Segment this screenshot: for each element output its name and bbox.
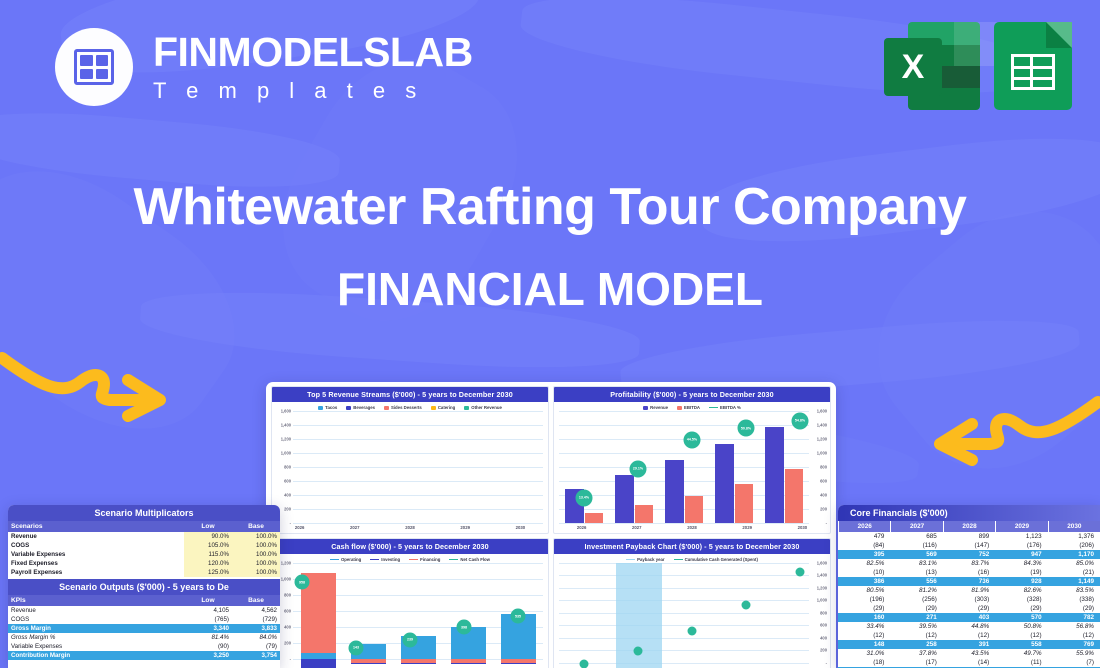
legend-label: Financing — [420, 557, 440, 562]
core-financials-rows: 4796858991,1231,376(84)(116)(147)(176)(2… — [838, 532, 1100, 668]
table-cell: (17) — [890, 658, 942, 667]
scenario-outputs-rows: Revenue4,1054,562COGS(765)(729)Gross Mar… — [8, 606, 280, 660]
table-cell: 1,170 — [1048, 550, 1100, 559]
cell-base: (729) — [232, 615, 280, 624]
table-cell: 81.2% — [890, 586, 942, 595]
x-tick-label: 2026 — [554, 524, 609, 533]
table-row: 80.5%81.2%81.9%82.6%83.5% — [838, 586, 1100, 595]
table-cell: 50.8% — [995, 622, 1047, 631]
bar-revenue — [765, 427, 783, 523]
y-tick-label: 600 — [811, 623, 827, 628]
y-tick-label: - — [811, 660, 827, 665]
table-cell: (116) — [890, 541, 942, 550]
bar-group — [665, 411, 703, 523]
chart-legend: Payback year Cumulative Cash Generated (… — [554, 554, 830, 563]
x-tick-label: 2028 — [664, 524, 719, 533]
legend-label: Other Revenue — [471, 405, 502, 410]
table-cell: (303) — [943, 595, 995, 604]
column-header-base: Base — [232, 521, 280, 532]
table-cell: (12) — [943, 631, 995, 640]
row-label: Gross Margin — [8, 624, 184, 633]
app-icons-group: X — [884, 22, 1072, 110]
data-label-bubble: 13.4% — [576, 489, 593, 506]
legend-label: EBITDA % — [720, 405, 741, 410]
table-row: 160271403570782 — [838, 613, 1100, 622]
cell-base: 4,562 — [232, 606, 280, 615]
data-label-bubble: 398 — [457, 620, 472, 635]
grid-icon — [74, 49, 114, 85]
table-row: Fixed Expenses120.0%100.0% — [8, 559, 280, 568]
cell-low: 81.4% — [184, 633, 232, 642]
dashboard-preview[interactable]: Top 5 Revenue Streams ($'000) - 5 years … — [266, 382, 836, 668]
cell-base: 100.0% — [232, 568, 280, 577]
bar-investing — [351, 663, 386, 664]
table-row: (12)(12)(12)(12)(12) — [838, 631, 1100, 640]
table-cell: 33.4% — [838, 622, 890, 631]
table-cell: 44.8% — [943, 622, 995, 631]
table-cell: (13) — [890, 568, 942, 577]
bar-investing — [401, 663, 436, 664]
y-tick-label: 800 — [275, 465, 291, 470]
chart-title: Investment Payback Chart ($'000) - 5 yea… — [554, 539, 830, 554]
cell-low: 125.0% — [184, 568, 232, 577]
table-cell: 82.6% — [995, 586, 1047, 595]
row-label: Variable Expenses — [8, 550, 184, 559]
table-cell: (7) — [1048, 658, 1100, 667]
cell-base: 100.0% — [232, 559, 280, 568]
table-cell: 160 — [838, 613, 890, 622]
table-cell: (29) — [838, 604, 890, 613]
bar-revenue — [715, 444, 733, 523]
table-cell: 258 — [890, 640, 942, 649]
table-row: Contribution Margin3,2503,754 — [8, 651, 280, 660]
table-cell: 56.8% — [1048, 622, 1100, 631]
table-cell: 83.7% — [943, 559, 995, 568]
table-cell: (147) — [943, 541, 995, 550]
x-tick-label: 2027 — [609, 524, 664, 533]
cell-low: 120.0% — [184, 559, 232, 568]
cell-base: 100.0% — [232, 550, 280, 559]
chart-plot-area: 1,6001,4001,2001,000800600400200-(200) — [557, 563, 827, 668]
chart-panel-profitability[interactable]: Profitability ($'000) - 5 years to Decem… — [553, 386, 831, 534]
cell-base: (79) — [232, 642, 280, 651]
year-header: 2028 — [943, 521, 995, 532]
bar-investing — [501, 663, 536, 664]
table-cell: (12) — [1048, 631, 1100, 640]
y-tick-label: 600 — [811, 479, 827, 484]
chart-title: Profitability ($'000) - 5 years to Decem… — [554, 387, 830, 402]
legend-label: Cumulative Cash Generated (Spent) — [685, 557, 758, 562]
row-label: Variable Expenses — [8, 642, 184, 651]
bar-revenue — [615, 475, 633, 523]
table-cell: (338) — [1048, 595, 1100, 604]
grid-line — [559, 523, 809, 524]
y-tick-label: 400 — [811, 493, 827, 498]
y-tick-label: 1,400 — [811, 423, 827, 428]
arrow-left-decoration — [0, 352, 190, 422]
chart-legend: Tacos Beverages Sides Desserts Catering … — [272, 402, 548, 411]
table-row: (29)(29)(29)(29)(29) — [838, 604, 1100, 613]
table-cell: 570 — [995, 613, 1047, 622]
table-cell: 55.9% — [1048, 649, 1100, 658]
table-row: Gross Margin3,3403,833 — [8, 624, 280, 633]
table-cell: (18) — [838, 658, 890, 667]
row-label: COGS — [8, 541, 184, 550]
bar-investing — [451, 663, 486, 664]
cell-base: 84.0% — [232, 633, 280, 642]
brand-logo[interactable]: FINMODELSLAB T e m p l a t e s — [55, 28, 473, 106]
page-subtitle: FINANCIAL MODEL — [0, 262, 1100, 316]
table-cell: 31.0% — [838, 649, 890, 658]
cell-low: 3,250 — [184, 651, 232, 660]
table-cell: 84.3% — [995, 559, 1047, 568]
table-row: (196)(256)(303)(328)(338) — [838, 595, 1100, 604]
y-tick-label: 1,400 — [811, 573, 827, 578]
excel-icon: X — [884, 22, 980, 110]
table-cell: 81.9% — [943, 586, 995, 595]
table-cell: 49.7% — [995, 649, 1047, 658]
row-label: Gross Margin % — [8, 633, 184, 642]
chart-x-axis: 20262027202820292030 — [554, 524, 830, 533]
chart-panel-cash-flow[interactable]: Cash flow ($'000) - 5 years to December … — [271, 538, 549, 668]
y-tick-label: 1,600 — [811, 409, 827, 414]
chart-plot-area: 1,6001,4001,2001,000800600400200-13.4%29… — [557, 411, 827, 523]
y-tick-label: 1,600 — [811, 561, 827, 566]
cell-low: 105.0% — [184, 541, 232, 550]
table-cell: (29) — [1048, 604, 1100, 613]
google-sheets-icon — [994, 22, 1072, 110]
table-cell: (29) — [890, 604, 942, 613]
table-cell: 391 — [943, 640, 995, 649]
y-tick-label: 200 — [811, 507, 827, 512]
table-cell: 82.5% — [838, 559, 890, 568]
chart-legend: Revenue EBITDA EBITDA % — [554, 402, 830, 411]
table-row: 4796858991,1231,376 — [838, 532, 1100, 541]
logo-badge — [55, 28, 133, 106]
table-cell: (11) — [995, 658, 1047, 667]
table-row: (10)(13)(16)(19)(21) — [838, 568, 1100, 577]
y-tick-label: 600 — [275, 479, 291, 484]
x-tick-label: 2029 — [720, 524, 775, 533]
data-label-bubble: 958 — [295, 575, 310, 590]
table-cell: 39.5% — [890, 622, 942, 631]
scenario-outputs-title: Scenario Outputs ($'000) - 5 years to De — [8, 579, 280, 595]
y-tick-label: 1,600 — [275, 409, 291, 414]
arrow-right-decoration — [925, 396, 1100, 466]
table-cell: (12) — [995, 631, 1047, 640]
y-tick-label: 800 — [811, 610, 827, 615]
bar-investing — [301, 659, 336, 668]
data-point-marker — [742, 601, 751, 610]
year-header: 2026 — [838, 521, 890, 532]
y-tick-label: 200 — [811, 648, 827, 653]
table-cell: 736 — [943, 577, 995, 586]
chart-series-area — [293, 563, 543, 668]
legend-label: Revenue — [650, 405, 668, 410]
table-cell: 85.0% — [1048, 559, 1100, 568]
legend-label: Catering — [438, 405, 455, 410]
table-cell: (256) — [890, 595, 942, 604]
legend-label: Beverages — [353, 405, 375, 410]
table-cell: 395 — [838, 550, 890, 559]
bar-ebitda — [735, 484, 753, 523]
grid-line — [293, 523, 543, 524]
table-cell: 148 — [838, 640, 890, 649]
y-tick-label: 400 — [811, 635, 827, 640]
chart-plot-area: 1,2001,000800600400200-(200)958143239398… — [275, 563, 545, 668]
data-point-marker — [796, 568, 805, 577]
y-tick-label: 1,000 — [275, 451, 291, 456]
table-cell: (14) — [943, 658, 995, 667]
table-cell: (12) — [890, 631, 942, 640]
table-cell: 769 — [1048, 640, 1100, 649]
table-cell: (29) — [943, 604, 995, 613]
x-tick-label: 2027 — [327, 524, 382, 533]
table-cell: (176) — [995, 541, 1047, 550]
row-label: Payroll Expenses — [8, 568, 184, 577]
table-cell: 479 — [838, 532, 890, 541]
y-tick-label: - — [811, 521, 827, 526]
data-point-marker — [688, 627, 697, 636]
table-cell: 685 — [890, 532, 942, 541]
bar-ebitda — [585, 513, 603, 523]
chart-series-area — [293, 411, 543, 523]
table-cell: (12) — [838, 631, 890, 640]
cell-low: 90.0% — [184, 532, 232, 541]
year-header: 2030 — [1048, 521, 1100, 532]
data-label-bubble: 535 — [511, 609, 526, 624]
y-tick-label: 400 — [275, 493, 291, 498]
table-row: Payroll Expenses125.0%100.0% — [8, 568, 280, 577]
table-cell: (21) — [1048, 568, 1100, 577]
table-cell: 947 — [995, 550, 1047, 559]
y-tick-label: 1,200 — [811, 437, 827, 442]
page-title: Whitewater Rafting Tour Company — [0, 180, 1100, 235]
table-row: 3865567369281,149 — [838, 577, 1100, 586]
scenario-sheet[interactable]: Scenario Multiplicators Scenarios Low Ba… — [8, 505, 280, 668]
core-financials-year-header: 20262027202820292030 — [838, 521, 1100, 532]
table-row: Variable Expenses(90)(79) — [8, 642, 280, 651]
bar-revenue — [665, 460, 683, 523]
y-tick-label: 1,200 — [275, 437, 291, 442]
data-point-marker — [634, 646, 643, 655]
table-cell: 928 — [995, 577, 1047, 586]
table-cell: 43.5% — [943, 649, 995, 658]
table-cell: 1,123 — [995, 532, 1047, 541]
row-label: Revenue — [8, 606, 184, 615]
table-cell: 556 — [890, 577, 942, 586]
bar-ebitda — [785, 469, 803, 523]
table-cell: 782 — [1048, 613, 1100, 622]
table-cell: 386 — [838, 577, 890, 586]
bar-ebitda — [685, 496, 703, 523]
chart-series-area — [559, 563, 809, 668]
table-cell: 83.1% — [890, 559, 942, 568]
row-label: COGS — [8, 615, 184, 624]
cell-base: 3,833 — [232, 624, 280, 633]
table-cell: 80.5% — [838, 586, 890, 595]
table-cell: 403 — [943, 613, 995, 622]
table-row: 82.5%83.1%83.7%84.3%85.0% — [838, 559, 1100, 568]
column-header-scenarios: Scenarios — [8, 521, 184, 532]
chart-series-area — [559, 411, 809, 523]
table-cell: (206) — [1048, 541, 1100, 550]
table-cell: (84) — [838, 541, 890, 550]
cell-base: 100.0% — [232, 541, 280, 550]
column-header-low: Low — [184, 595, 232, 606]
y-tick-label: 1,000 — [811, 598, 827, 603]
core-financials-sheet[interactable]: Core Financials ($'000) 2026202720282029… — [838, 505, 1100, 668]
data-label-bubble: 29.1% — [630, 460, 647, 477]
scenario-multiplicators-title: Scenario Multiplicators — [8, 505, 280, 521]
table-cell: 752 — [943, 550, 995, 559]
bar-ebitda — [635, 505, 653, 523]
table-cell: (328) — [995, 595, 1047, 604]
row-label: Revenue — [8, 532, 184, 541]
data-label-bubble: 44.5% — [684, 431, 701, 448]
cell-low: (765) — [184, 615, 232, 624]
year-header: 2027 — [890, 521, 942, 532]
chart-plot-area: 1,6001,4001,2001,000800600400200- — [275, 411, 545, 523]
x-tick-label: 2028 — [382, 524, 437, 533]
x-tick-label: 2029 — [438, 524, 493, 533]
chart-panel-revenue-streams[interactable]: Top 5 Revenue Streams ($'000) - 5 years … — [271, 386, 549, 534]
table-row: (84)(116)(147)(176)(206) — [838, 541, 1100, 550]
cell-low: 4,105 — [184, 606, 232, 615]
table-cell: 899 — [943, 532, 995, 541]
chart-title: Cash flow ($'000) - 5 years to December … — [272, 539, 548, 554]
scenario-multiplicators-header: Scenarios Low Base — [8, 521, 280, 532]
excel-x-glyph: X — [884, 38, 942, 96]
table-row: COGS105.0%100.0% — [8, 541, 280, 550]
cell-low: 3,340 — [184, 624, 232, 633]
cell-base: 100.0% — [232, 532, 280, 541]
table-row: Revenue90.0%100.0% — [8, 532, 280, 541]
table-row: 33.4%39.5%44.8%50.8%56.8% — [838, 622, 1100, 631]
table-cell: 1,149 — [1048, 577, 1100, 586]
cell-low: 115.0% — [184, 550, 232, 559]
legend-label: Net Cash Flow — [460, 557, 490, 562]
scenario-multiplicators-rows: Revenue90.0%100.0%COGS105.0%100.0%Variab… — [8, 532, 280, 577]
row-label: Fixed Expenses — [8, 559, 184, 568]
cashflow-bar — [401, 563, 436, 668]
legend-label: Payback year — [637, 557, 664, 562]
data-label-bubble: 50.8% — [738, 420, 755, 437]
table-cell: (196) — [838, 595, 890, 604]
data-label-bubble: 54.8% — [792, 412, 809, 429]
table-cell: 271 — [890, 613, 942, 622]
scenario-outputs-header: KPIs Low Base — [8, 595, 280, 606]
chart-legend: Operating Investing Financing Net Cash F… — [272, 554, 548, 563]
table-cell: 558 — [995, 640, 1047, 649]
legend-label: Investing — [381, 557, 400, 562]
y-tick-label: 1,400 — [275, 423, 291, 428]
table-row: 31.0%37.8%43.5%49.7%55.9% — [838, 649, 1100, 658]
y-tick-label: 800 — [811, 465, 827, 470]
table-cell: 83.5% — [1048, 586, 1100, 595]
cell-low: (90) — [184, 642, 232, 651]
table-row: (18)(17)(14)(11)(7) — [838, 658, 1100, 667]
table-cell: (29) — [995, 604, 1047, 613]
y-tick-label: 1,000 — [811, 451, 827, 456]
table-cell: (10) — [838, 568, 890, 577]
chart-x-axis: 20262027202820292030 — [272, 524, 548, 533]
row-label: Contribution Margin — [8, 651, 184, 660]
table-row: COGS(765)(729) — [8, 615, 280, 624]
brand-name: FINMODELSLAB — [153, 32, 473, 73]
cell-base: 3,754 — [232, 651, 280, 660]
year-header: 2029 — [995, 521, 1047, 532]
data-point-marker — [580, 660, 589, 668]
chart-title: Top 5 Revenue Streams ($'000) - 5 years … — [272, 387, 548, 402]
table-cell: 569 — [890, 550, 942, 559]
cashflow-bar — [451, 563, 486, 668]
legend-label: Sides Desserts — [391, 405, 422, 410]
table-row: Gross Margin %81.4%84.0% — [8, 633, 280, 642]
x-tick-label: 2030 — [493, 524, 548, 533]
table-cell: 37.8% — [890, 649, 942, 658]
data-label-bubble: 143 — [349, 640, 364, 655]
table-row: Revenue4,1054,562 — [8, 606, 280, 615]
column-header-kpis: KPIs — [8, 595, 184, 606]
column-header-low: Low — [184, 521, 232, 532]
legend-label: Tacos — [325, 405, 337, 410]
legend-label: EBITDA — [684, 405, 700, 410]
y-tick-label: 1,200 — [811, 585, 827, 590]
column-header-base: Base — [232, 595, 280, 606]
table-cell: (19) — [995, 568, 1047, 577]
data-label-bubble: 239 — [403, 632, 418, 647]
table-row: 3955697529471,170 — [838, 550, 1100, 559]
table-row: Variable Expenses115.0%100.0% — [8, 550, 280, 559]
table-row: 148258391558769 — [838, 640, 1100, 649]
legend-label: Operating — [341, 557, 361, 562]
core-financials-title: Core Financials ($'000) — [838, 505, 1100, 521]
table-cell: 1,376 — [1048, 532, 1100, 541]
brand-tagline: T e m p l a t e s — [153, 80, 473, 102]
chart-panel-investment-payback[interactable]: Investment Payback Chart ($'000) - 5 yea… — [553, 538, 831, 668]
table-cell: (16) — [943, 568, 995, 577]
